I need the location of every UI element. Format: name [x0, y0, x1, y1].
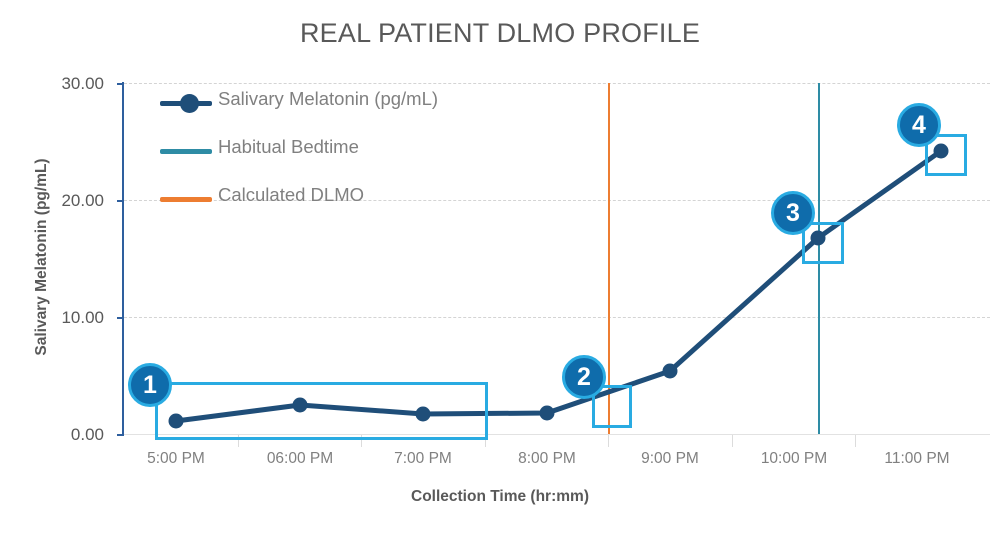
y-tick-label-0: 0.00	[26, 425, 104, 445]
x-tick-mark-4	[608, 435, 609, 447]
x-tick-label-1700: 5:00 PM	[116, 450, 236, 468]
legend-marker-dot-melatonin	[180, 94, 199, 113]
legend-label-dlmo: Calculated DLMO	[218, 184, 364, 206]
x-tick-mark-5	[732, 435, 733, 447]
annotation-badge-1[interactable]: 1	[128, 363, 172, 407]
x-tick-mark-6	[855, 435, 856, 447]
y-axis-title: Salivary Melatonin (pg/mL)	[33, 107, 51, 407]
annotation-badge-2[interactable]: 2	[562, 355, 606, 399]
x-axis-title: Collection Time (hr:mm)	[0, 488, 1000, 506]
highlight-box-1	[155, 382, 488, 440]
y-tick-mark-30	[117, 83, 124, 85]
x-tick-label-2300: 11:00 PM	[857, 450, 977, 468]
x-tick-label-1800: 06:00 PM	[240, 450, 360, 468]
x-tick-label-1900: 7:00 PM	[363, 450, 483, 468]
x-tick-label-2100: 9:00 PM	[610, 450, 730, 468]
y-tick-mark-10	[117, 317, 124, 319]
gridline-10	[124, 317, 990, 318]
x-tick-label-2000: 8:00 PM	[487, 450, 607, 468]
legend-label-bedtime: Habitual Bedtime	[218, 136, 359, 158]
annotation-badge-4[interactable]: 4	[897, 103, 941, 147]
y-tick-label-10: 10.00	[26, 308, 104, 328]
gridline-30	[124, 83, 990, 84]
annotation-badge-3[interactable]: 3	[771, 191, 815, 235]
chart-container: REAL PATIENT DLMO PROFILE Salivary Melat…	[0, 0, 1000, 541]
legend-label-melatonin: Salivary Melatonin (pg/mL)	[218, 88, 438, 110]
y-tick-mark-0	[117, 434, 124, 436]
legend-line-swatch-bedtime	[160, 149, 212, 154]
y-tick-mark-20	[117, 200, 124, 202]
y-axis-line	[122, 82, 124, 435]
chart-title: REAL PATIENT DLMO PROFILE	[0, 18, 1000, 49]
y-tick-label-30: 30.00	[26, 74, 104, 94]
calculated-dlmo-line	[608, 83, 610, 434]
x-tick-label-2200: 10:00 PM	[734, 450, 854, 468]
y-tick-label-20: 20.00	[26, 191, 104, 211]
legend-line-swatch-dlmo	[160, 197, 212, 202]
